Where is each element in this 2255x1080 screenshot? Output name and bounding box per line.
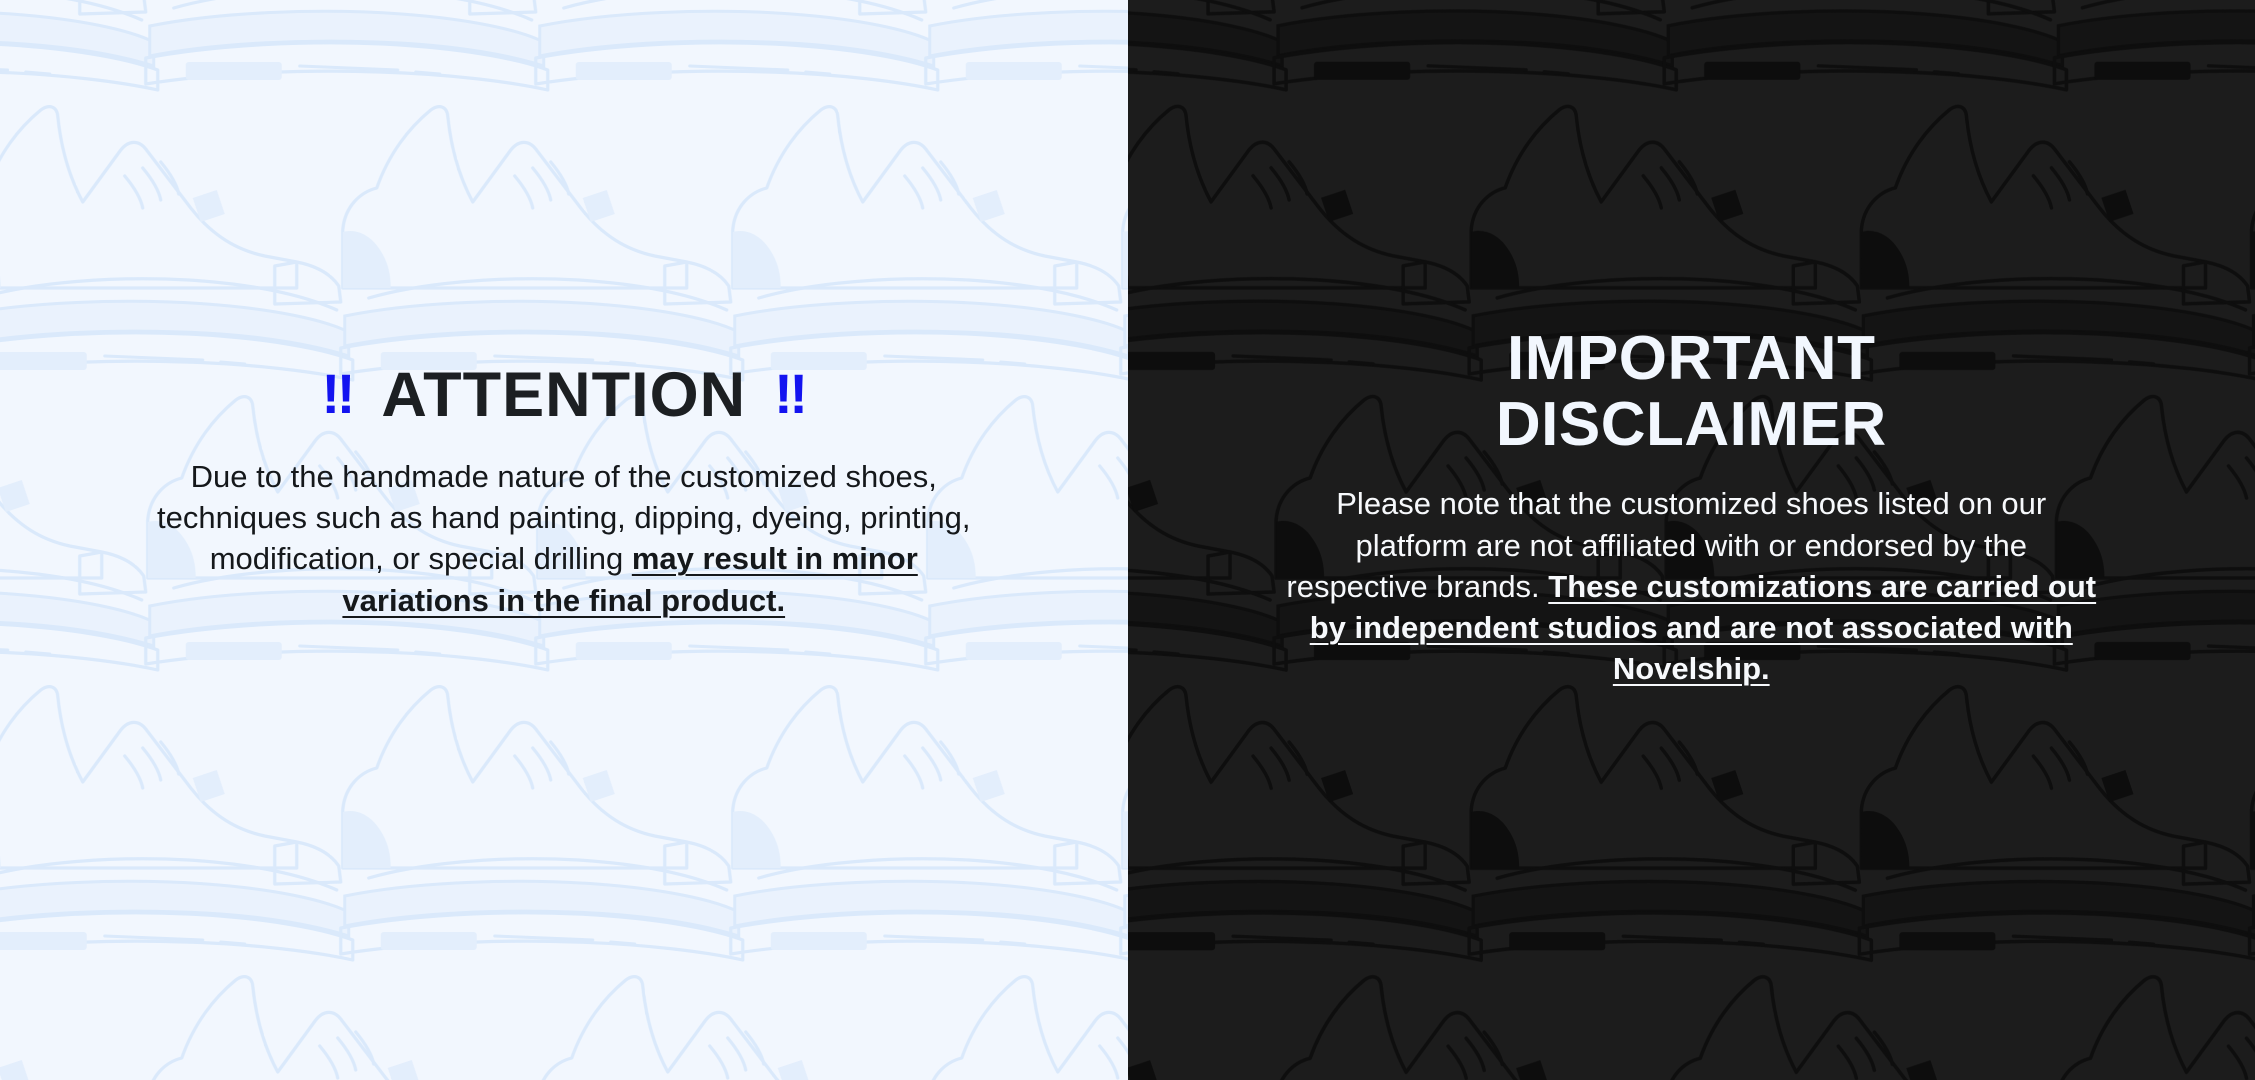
split-notice-board: ‼ ATTENTION ‼ Due to the handmade nature…	[0, 0, 2255, 1080]
attention-panel: ‼ ATTENTION ‼ Due to the handmade nature…	[0, 0, 1128, 1080]
attention-body: Due to the handmade nature of the custom…	[154, 456, 974, 621]
attention-content: ‼ ATTENTION ‼ Due to the handmade nature…	[154, 0, 974, 621]
disclaimer-heading-line-2: DISCLAIMER	[1281, 392, 2101, 458]
disclaimer-panel: IMPORTANT DISCLAIMER Please note that th…	[1128, 0, 2255, 1080]
disclaimer-heading: IMPORTANT DISCLAIMER	[1281, 326, 2101, 457]
attention-heading: ‼ ATTENTION ‼	[154, 364, 974, 427]
attention-heading-text: ATTENTION	[381, 364, 746, 427]
double-exclamation-icon-right: ‼	[774, 366, 806, 422]
disclaimer-heading-line-1: IMPORTANT	[1281, 326, 2101, 392]
disclaimer-body: Please note that the customized shoes li…	[1281, 483, 2101, 689]
disclaimer-content: IMPORTANT DISCLAIMER Please note that th…	[1281, 0, 2101, 690]
double-exclamation-icon-left: ‼	[322, 366, 354, 422]
